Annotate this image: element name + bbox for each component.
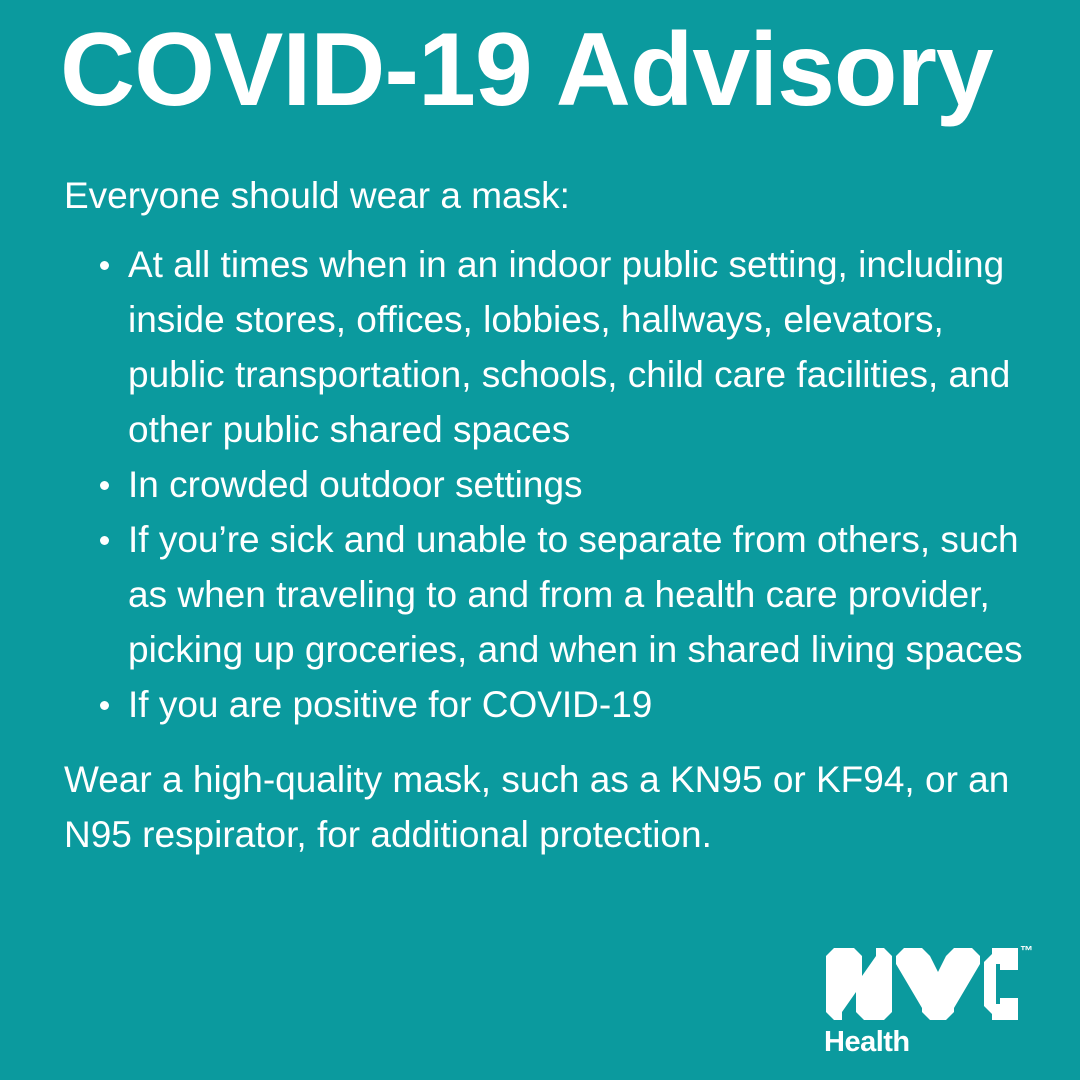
lead-paragraph: Everyone should wear a mask:	[0, 168, 1080, 223]
trademark-icon: ™	[1020, 944, 1033, 957]
list-item: If you are positive for COVID-19	[0, 677, 1080, 732]
list-item: In crowded outdoor settings	[0, 457, 1080, 512]
closing-paragraph: Wear a high-quality mask, such as a KN95…	[0, 752, 1080, 862]
list-item-label: If you’re sick and unable to separate fr…	[128, 519, 1023, 670]
bullet-dot-icon	[100, 536, 109, 545]
list-item-label: If you are positive for COVID-19	[128, 684, 652, 725]
bullet-dot-icon	[100, 481, 109, 490]
page-title: COVID-19 Advisory	[60, 14, 1040, 126]
bullet-dot-icon	[100, 261, 109, 270]
list-item: At all times when in an indoor public se…	[0, 237, 1080, 457]
covid-advisory-poster: COVID-19 Advisory Everyone should wear a…	[0, 0, 1080, 1080]
nyc-health-logo: ™ Health	[824, 946, 1044, 1056]
list-item-label: In crowded outdoor settings	[128, 464, 583, 505]
list-item-label: At all times when in an indoor public se…	[128, 244, 1010, 450]
logo-subtitle: Health	[824, 1026, 1044, 1058]
advisory-body: Everyone should wear a mask: At all time…	[0, 168, 1080, 862]
bullet-dot-icon	[100, 701, 109, 710]
nyc-wordmark-icon: ™	[824, 946, 1020, 1022]
list-item: If you’re sick and unable to separate fr…	[0, 512, 1080, 677]
mask-guidance-list: At all times when in an indoor public se…	[0, 237, 1080, 732]
